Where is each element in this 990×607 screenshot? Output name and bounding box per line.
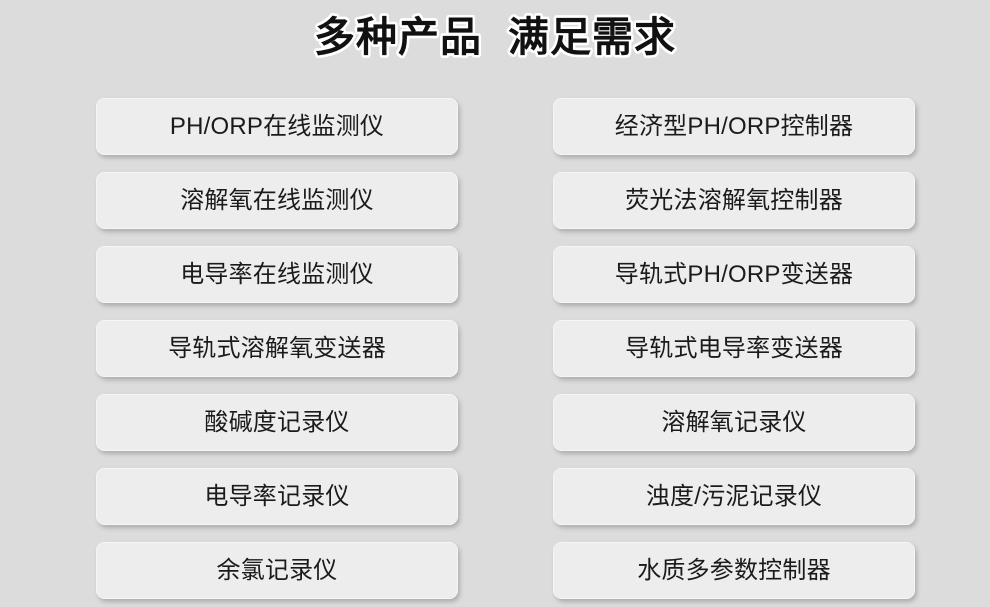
product-button-label: 溶解氧在线监测仪 — [180, 189, 374, 213]
page-title: 多种产品满足需求 — [314, 17, 676, 58]
product-list-page: 多种产品满足需求 PH/ORP在线监测仪 经济型PH/ORP控制器 溶解氧在线监… — [0, 0, 990, 607]
product-button-label: PH/ORP在线监测仪 — [170, 115, 384, 139]
product-button-din-rail-dissolved-oxygen-transmitter[interactable]: 导轨式溶解氧变送器 — [96, 320, 458, 377]
product-button-label: 导轨式溶解氧变送器 — [168, 337, 386, 361]
page-title-part-2: 满足需求 — [508, 14, 676, 60]
product-button-label: 电导率在线监测仪 — [180, 263, 374, 287]
product-button-label: 溶解氧记录仪 — [661, 411, 806, 435]
product-button-conductivity-recorder[interactable]: 电导率记录仪 — [96, 468, 458, 525]
product-button-label: 浊度/污泥记录仪 — [646, 485, 822, 509]
product-button-dissolved-oxygen-online-monitor[interactable]: 溶解氧在线监测仪 — [96, 172, 458, 229]
product-button-grid: PH/ORP在线监测仪 经济型PH/ORP控制器 溶解氧在线监测仪 荧光法溶解氧… — [96, 98, 915, 598]
product-button-din-rail-conductivity-transmitter[interactable]: 导轨式电导率变送器 — [553, 320, 915, 377]
product-button-label: 电导率记录仪 — [204, 485, 349, 509]
product-button-ph-recorder[interactable]: 酸碱度记录仪 — [96, 394, 458, 451]
product-button-economic-ph-orp-controller[interactable]: 经济型PH/ORP控制器 — [553, 98, 915, 155]
product-button-turbidity-sludge-recorder[interactable]: 浊度/污泥记录仪 — [553, 468, 915, 525]
product-button-residual-chlorine-recorder[interactable]: 余氯记录仪 — [96, 542, 458, 599]
product-button-din-rail-ph-orp-transmitter[interactable]: 导轨式PH/ORP变送器 — [553, 246, 915, 303]
product-button-conductivity-online-monitor[interactable]: 电导率在线监测仪 — [96, 246, 458, 303]
product-button-fluorescence-dissolved-oxygen-controller[interactable]: 荧光法溶解氧控制器 — [553, 172, 915, 229]
product-button-multi-parameter-water-quality-controller[interactable]: 水质多参数控制器 — [553, 542, 915, 599]
product-button-dissolved-oxygen-recorder[interactable]: 溶解氧记录仪 — [553, 394, 915, 451]
product-button-ph-orp-online-monitor[interactable]: PH/ORP在线监测仪 — [96, 98, 458, 155]
product-button-label: 余氯记录仪 — [217, 559, 338, 583]
product-button-label: 水质多参数控制器 — [637, 559, 831, 583]
product-button-label: 经济型PH/ORP控制器 — [615, 115, 853, 139]
product-button-label: 荧光法溶解氧控制器 — [625, 189, 843, 213]
product-button-label: 酸碱度记录仪 — [204, 411, 349, 435]
page-title-container: 多种产品满足需求 — [0, 6, 990, 68]
product-button-label: 导轨式电导率变送器 — [625, 337, 843, 361]
page-title-part-1: 多种产品 — [314, 14, 482, 60]
product-button-label: 导轨式PH/ORP变送器 — [615, 263, 853, 287]
